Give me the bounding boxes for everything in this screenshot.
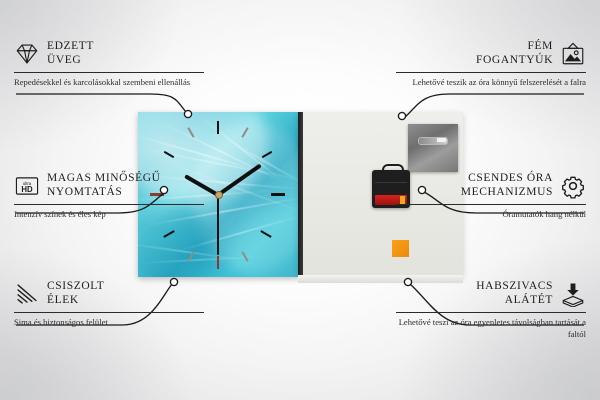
feature-title: MAGAS MINŐSÉGŰNYOMTATÁS <box>47 172 161 199</box>
infographic-canvas: EDZETTÜVEG Repedésekkel és karcolásokkal… <box>0 0 600 400</box>
feature-divider <box>396 312 586 313</box>
clock-tick-12 <box>217 121 219 134</box>
feature-description: Óramutatók hang nélkül <box>396 209 586 221</box>
feature-description: Intenzív színek és éles kép <box>14 209 204 221</box>
feature-description: Lehetővé teszik az óra könnyű felszerelé… <box>396 77 586 89</box>
feature-metal-handles: FÉMFOGANTYÚK Lehetővé teszik az óra könn… <box>396 40 586 89</box>
hanger-slot <box>418 137 448 145</box>
feature-divider <box>14 72 204 73</box>
feature-high-quality-print: ultra HD MAGAS MINŐSÉGŰNYOMTATÁS Intenzí… <box>14 172 204 221</box>
feature-foam-pad: HABSZIVACSALÁTÉT Lehetővé teszi az óra e… <box>396 280 586 340</box>
feature-polished-edges: CSISZOLTÉLEK Sima és biztonságos felület <box>14 280 204 329</box>
ultra-hd-icon: ultra HD <box>14 173 40 199</box>
feature-title: HABSZIVACSALÁTÉT <box>476 280 553 307</box>
feature-description: Sima és biztonságos felület <box>14 317 204 329</box>
feature-divider <box>14 312 204 313</box>
clock-center-pin <box>215 191 223 199</box>
feature-tempered-glass: EDZETTÜVEG Repedésekkel és karcolásokkal… <box>14 40 204 89</box>
feature-title: CSISZOLTÉLEK <box>47 280 104 307</box>
panel-edge <box>298 112 303 277</box>
metal-hanger <box>408 124 458 172</box>
feature-divider <box>396 72 586 73</box>
feature-description: Repedésekkel és karcolásokkal szembeni e… <box>14 77 204 89</box>
gear-icon <box>560 173 586 199</box>
feature-title: EDZETTÜVEG <box>47 40 94 67</box>
diamond-icon <box>14 41 40 67</box>
foam-pad <box>392 240 409 257</box>
feature-divider <box>14 204 204 205</box>
clock-second-hand <box>217 195 219 255</box>
clock-tick-6 <box>217 256 219 269</box>
picture-hanger-icon <box>560 41 586 67</box>
feature-quiet-mechanism: CSENDES ÓRAMECHANIZMUS Óramutatók hang n… <box>396 172 586 221</box>
feature-title: FÉMFOGANTYÚK <box>476 40 553 67</box>
foam-pad-icon <box>560 281 586 307</box>
feature-title: CSENDES ÓRAMECHANIZMUS <box>461 172 553 199</box>
clock-tick-3 <box>271 193 285 196</box>
feature-divider <box>396 204 586 205</box>
svg-text:HD: HD <box>21 184 33 193</box>
polished-edges-icon <box>14 281 40 307</box>
feature-description: Lehetővé teszi az óra egyenletes távolsá… <box>396 317 586 340</box>
